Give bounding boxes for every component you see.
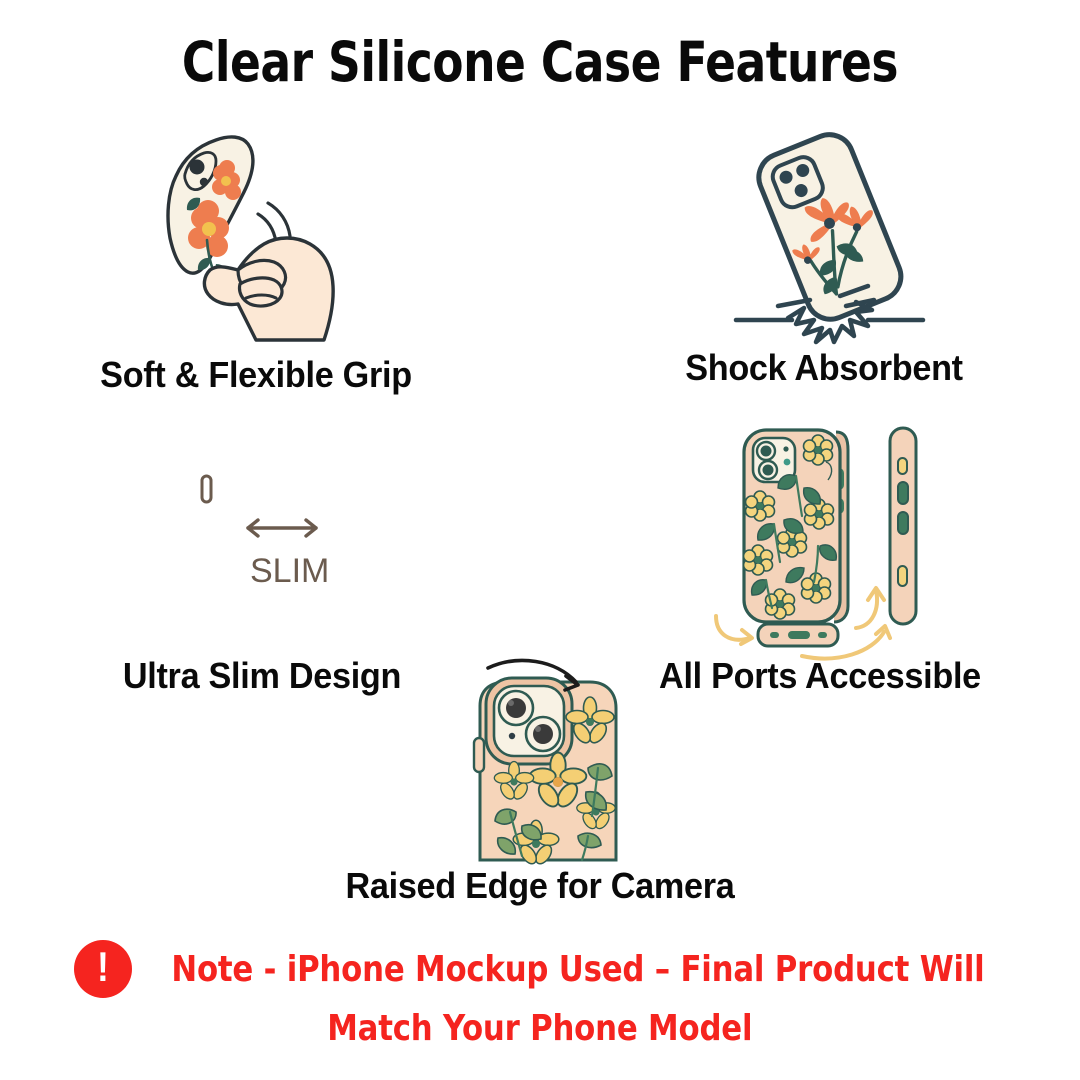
feature-illustration-shock-absorbent bbox=[718, 120, 943, 345]
feature-label-shock-absorbent: Shock Absorbent bbox=[581, 347, 1067, 389]
feature-illustration-ultra-slim-design: SLIM bbox=[180, 430, 360, 630]
feature-label-raised-edge-for-camera: Raised Edge for Camera bbox=[198, 865, 882, 907]
feature-illustration-soft-flexible-grip bbox=[138, 118, 368, 348]
feature-label-soft-flexible-grip: Soft & Flexible Grip bbox=[13, 354, 499, 396]
note-banner: ! Note - iPhone Mockup Used – Final Prod… bbox=[0, 940, 1080, 1049]
exclamation-glyph: ! bbox=[97, 946, 109, 988]
feature-illustration-raised-edge-for-camera bbox=[440, 660, 655, 860]
infographic-page: Clear Silicone Case Features bbox=[0, 0, 1080, 1080]
slim-profile-icon: SLIM bbox=[194, 444, 329, 616]
note-line-1: ! Note - iPhone Mockup Used – Final Prod… bbox=[74, 940, 1006, 998]
page-title: Clear Silicone Case Features bbox=[43, 30, 1037, 94]
slim-annotation-text: SLIM bbox=[250, 552, 329, 590]
ports-cutouts-icon bbox=[716, 428, 916, 659]
exclamation-circle-icon: ! bbox=[74, 940, 132, 998]
feature-illustration-all-ports-accessible bbox=[708, 420, 943, 660]
note-text-line-2: Match Your Phone Model bbox=[327, 1008, 752, 1049]
note-text-line-1: Note - iPhone Mockup Used – Final Produc… bbox=[171, 949, 984, 990]
hand-flex-phone-icon bbox=[168, 137, 333, 340]
phone-drop-impact-icon bbox=[736, 127, 923, 342]
camera-bump-icon bbox=[474, 660, 616, 866]
feature-label-ultra-slim-design: Ultra Slim Design bbox=[13, 655, 511, 697]
